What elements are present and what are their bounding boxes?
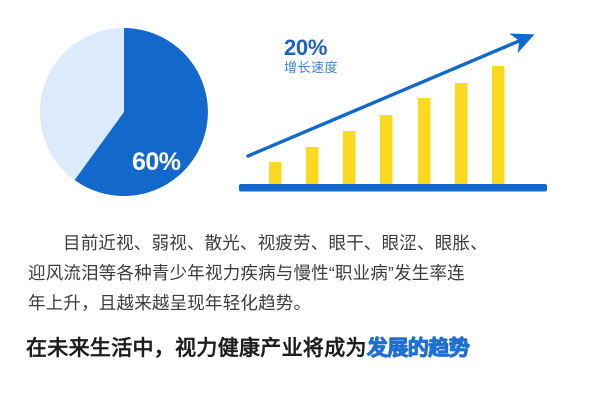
bar-5	[418, 98, 431, 185]
infographic-page: 60% 20% 增长速度	[0, 0, 600, 400]
body-paragraph: 目前近视、弱视、散光、视疲劳、眼干、眼涩、眼胀、 迎风流泪等各种青少年视力疾病与…	[28, 228, 576, 318]
pie-chart: 60%	[36, 24, 212, 200]
bar-chart: 20% 增长速度	[236, 24, 552, 200]
pie-chart-svg	[36, 24, 212, 200]
paragraph-line-2: 迎风流泪等各种青少年视力疾病与慢性“职业病”发生率连	[28, 258, 576, 288]
growth-percent-label: 20%	[284, 36, 338, 60]
growth-callout: 20% 增长速度	[284, 36, 338, 75]
headline-accent-text: 发展的趋势	[367, 337, 470, 360]
bar-2	[306, 147, 319, 185]
headline-main-text: 在未来生活中，视力健康产业将成为	[26, 337, 367, 360]
pie-value-label: 60%	[132, 150, 181, 175]
paragraph-line-1-text: 目前近视、弱视、散光、视疲劳、眼干、眼涩、眼胀、	[63, 233, 488, 253]
paragraph-line-1: 目前近视、弱视、散光、视疲劳、眼干、眼涩、眼胀、	[28, 228, 576, 258]
bar-7	[492, 66, 505, 185]
bar-1	[269, 162, 282, 185]
bar-4	[380, 115, 393, 185]
bar-6	[455, 83, 468, 185]
paragraph-line-3: 年上升，且越来越呈现年轻化趋势。	[28, 288, 576, 318]
bar-3	[343, 131, 356, 185]
headline: 在未来生活中，视力健康产业将成为发展的趋势	[26, 336, 469, 361]
growth-caption-label: 增长速度	[284, 61, 338, 75]
chart-baseline	[239, 184, 547, 192]
